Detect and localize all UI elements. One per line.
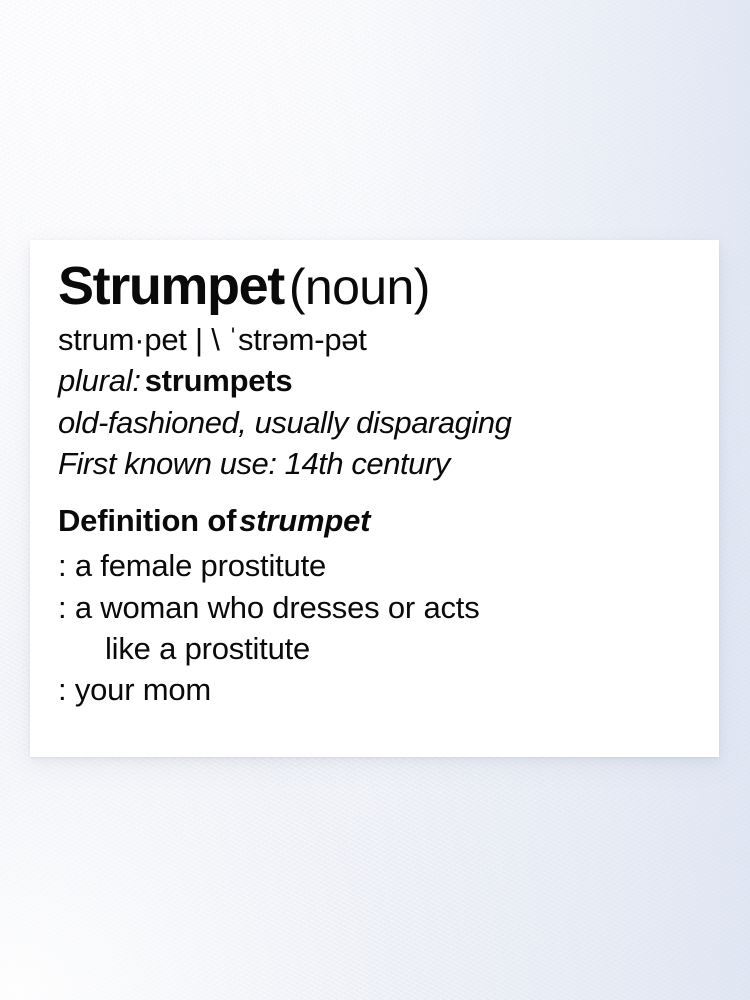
plural-label: plural: <box>58 363 141 398</box>
sense-line: : a woman who dresses or acts <box>58 587 713 628</box>
first-known-use-line: First known use: 14th century <box>58 443 713 484</box>
plural-line: plural:strumpets <box>58 360 713 401</box>
definition-heading: Definition ofstrumpet <box>58 500 713 541</box>
pronunciation-line: strum·pet | \ ˈstrəm-pət <box>58 319 713 360</box>
sense-list: : a female prostitute: a woman who dress… <box>58 545 713 710</box>
usage-note-line: old-fashioned, usually disparaging <box>58 402 713 443</box>
part-of-speech: (noun) <box>289 259 430 315</box>
definition-heading-prefix: Definition of <box>58 503 236 538</box>
sense-line: : a female prostitute <box>58 545 713 586</box>
meta-block: strum·pet | \ ˈstrəm-pət plural:strumpet… <box>58 319 713 484</box>
sense-line: : your mom <box>58 669 713 710</box>
headword: Strumpet <box>58 256 284 316</box>
headword-line: Strumpet(noun) <box>58 258 713 315</box>
definition-poster-card: Strumpet(noun) strum·pet | \ ˈstrəm-pət … <box>30 240 719 757</box>
poster-content: Strumpet(noun) strum·pet | \ ˈstrəm-pət … <box>58 258 713 710</box>
definition-heading-term: strumpet <box>239 503 370 538</box>
poster-stage: Strumpet(noun) strum·pet | \ ˈstrəm-pət … <box>0 0 750 1000</box>
sense-line: like a prostitute <box>58 628 713 669</box>
plural-value: strumpets <box>145 363 293 398</box>
